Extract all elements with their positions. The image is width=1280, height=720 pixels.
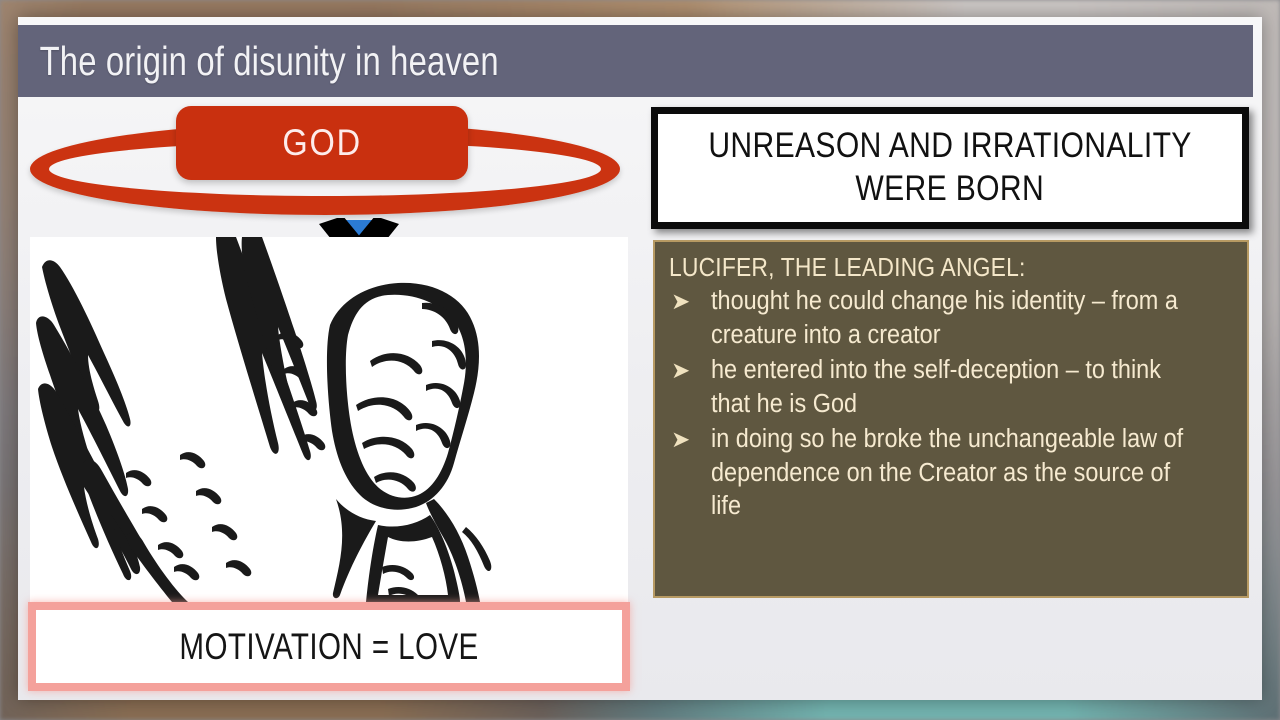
fact-box-bullet-list: ➤ thought he could change his identity –… [667, 285, 1233, 524]
list-item-text: he entered into the self-deception – to … [711, 354, 1191, 422]
headline-box: UNREASON AND IRRATIONALITY WERE BORN [651, 107, 1249, 229]
headline-line-1: UNREASON AND IRRATIONALITY [708, 125, 1191, 168]
angel-illustration [30, 237, 628, 602]
cycle-diagram: GOD LOVE FRUIT WORD OF GOD [24, 103, 628, 228]
lucifer-fact-box: LUCIFER, THE LEADING ANGEL: ➤ thought he… [653, 240, 1249, 598]
headline-line-2: WERE BORN [856, 168, 1045, 211]
slide-stage: The origin of disunity in heaven GOD LOV… [0, 0, 1280, 720]
fact-box-title: LUCIFER, THE LEADING ANGEL: [669, 252, 1165, 283]
motivation-label: MOTIVATION = LOVE [179, 626, 478, 668]
list-item: ➤ in doing so he broke the unchangeable … [667, 423, 1233, 525]
list-item: ➤ thought he could change his identity –… [667, 285, 1233, 353]
list-item: ➤ he entered into the self-deception – t… [667, 354, 1233, 422]
bullet-arrow-icon: ➤ [667, 423, 711, 456]
slide-title-bar: The origin of disunity in heaven [18, 25, 1253, 97]
bullet-arrow-icon: ➤ [667, 354, 711, 387]
god-box: GOD [176, 106, 468, 180]
bullet-arrow-icon: ➤ [667, 285, 711, 318]
list-item-text: thought he could change his identity – f… [711, 285, 1191, 353]
page-title: The origin of disunity in heaven [18, 38, 499, 85]
god-label: GOD [282, 122, 361, 164]
motivation-box: MOTIVATION = LOVE [28, 602, 630, 691]
list-item-text: in doing so he broke the unchangeable la… [711, 423, 1191, 525]
angel-line-art [30, 237, 628, 602]
